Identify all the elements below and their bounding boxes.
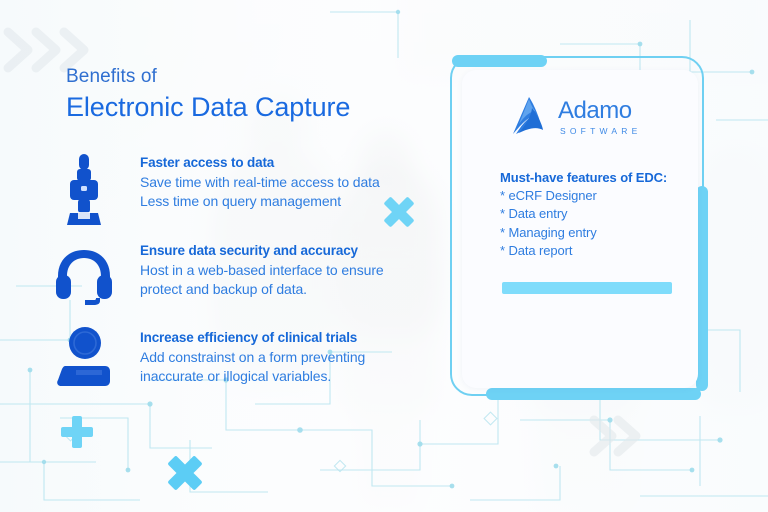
person-standing-icon	[62, 152, 106, 228]
feature-item: * Managing entry	[500, 224, 667, 242]
edc-features-card: Adamo SOFTWARE Must-have features of EDC…	[450, 56, 704, 396]
page-title: Electronic Data Capture	[66, 92, 350, 123]
logo-subtitle: SOFTWARE	[560, 127, 641, 136]
benefit-2-line-2: protect and backup of data.	[140, 280, 450, 299]
feature-item: * eCRF Designer	[500, 187, 667, 205]
card-accent-top	[452, 55, 547, 67]
benefit-2-text: Ensure data security and accuracy Host i…	[140, 243, 450, 299]
title-eyebrow: Benefits of	[66, 66, 350, 88]
page-title-block: Benefits of Electronic Data Capture	[66, 66, 350, 123]
card-inner-surface: Adamo SOFTWARE Must-have features of EDC…	[462, 70, 698, 388]
features-heading: Must-have features of EDC:	[500, 170, 667, 185]
benefit-3-heading: Increase efficiency of clinical trials	[140, 330, 450, 345]
benefit-1-heading: Faster access to data	[140, 155, 440, 170]
infographic-canvas: Benefits of Electronic Data Capture Fast…	[0, 0, 768, 512]
x-mark-cyan-lower-icon	[164, 452, 206, 494]
benefit-1-line-1: Save time with real-time access to data	[140, 173, 440, 192]
benefit-2-line-1: Host in a web-based interface to ensure	[140, 261, 450, 280]
benefit-2-heading: Ensure data security and accuracy	[140, 243, 450, 258]
logo-name: Adamo	[558, 99, 641, 123]
benefit-3-line-1: Add constrainst on a form preventing	[140, 348, 450, 367]
plus-mark-cyan-icon	[60, 415, 94, 449]
benefit-3-text: Increase efficiency of clinical trials A…	[140, 330, 450, 386]
feature-item: * Data entry	[500, 205, 667, 223]
user-bust-icon	[56, 326, 112, 388]
card-highlight-bar	[502, 282, 672, 294]
chevron-cluster-bottom-right-icon	[588, 412, 648, 460]
x-mark-cyan-upper-icon	[380, 193, 418, 231]
card-accent-bottom	[486, 388, 701, 400]
feature-item: * Data report	[500, 242, 667, 260]
edc-feature-list: Must-have features of EDC: * eCRF Design…	[500, 170, 667, 261]
adamo-logo: Adamo SOFTWARE	[510, 96, 641, 138]
benefit-3-line-2: inaccurate or illogical variables.	[140, 367, 450, 386]
headset-icon	[54, 248, 114, 306]
adamo-logo-text: Adamo SOFTWARE	[558, 99, 641, 136]
adamo-swoosh-logo-icon	[510, 96, 550, 138]
